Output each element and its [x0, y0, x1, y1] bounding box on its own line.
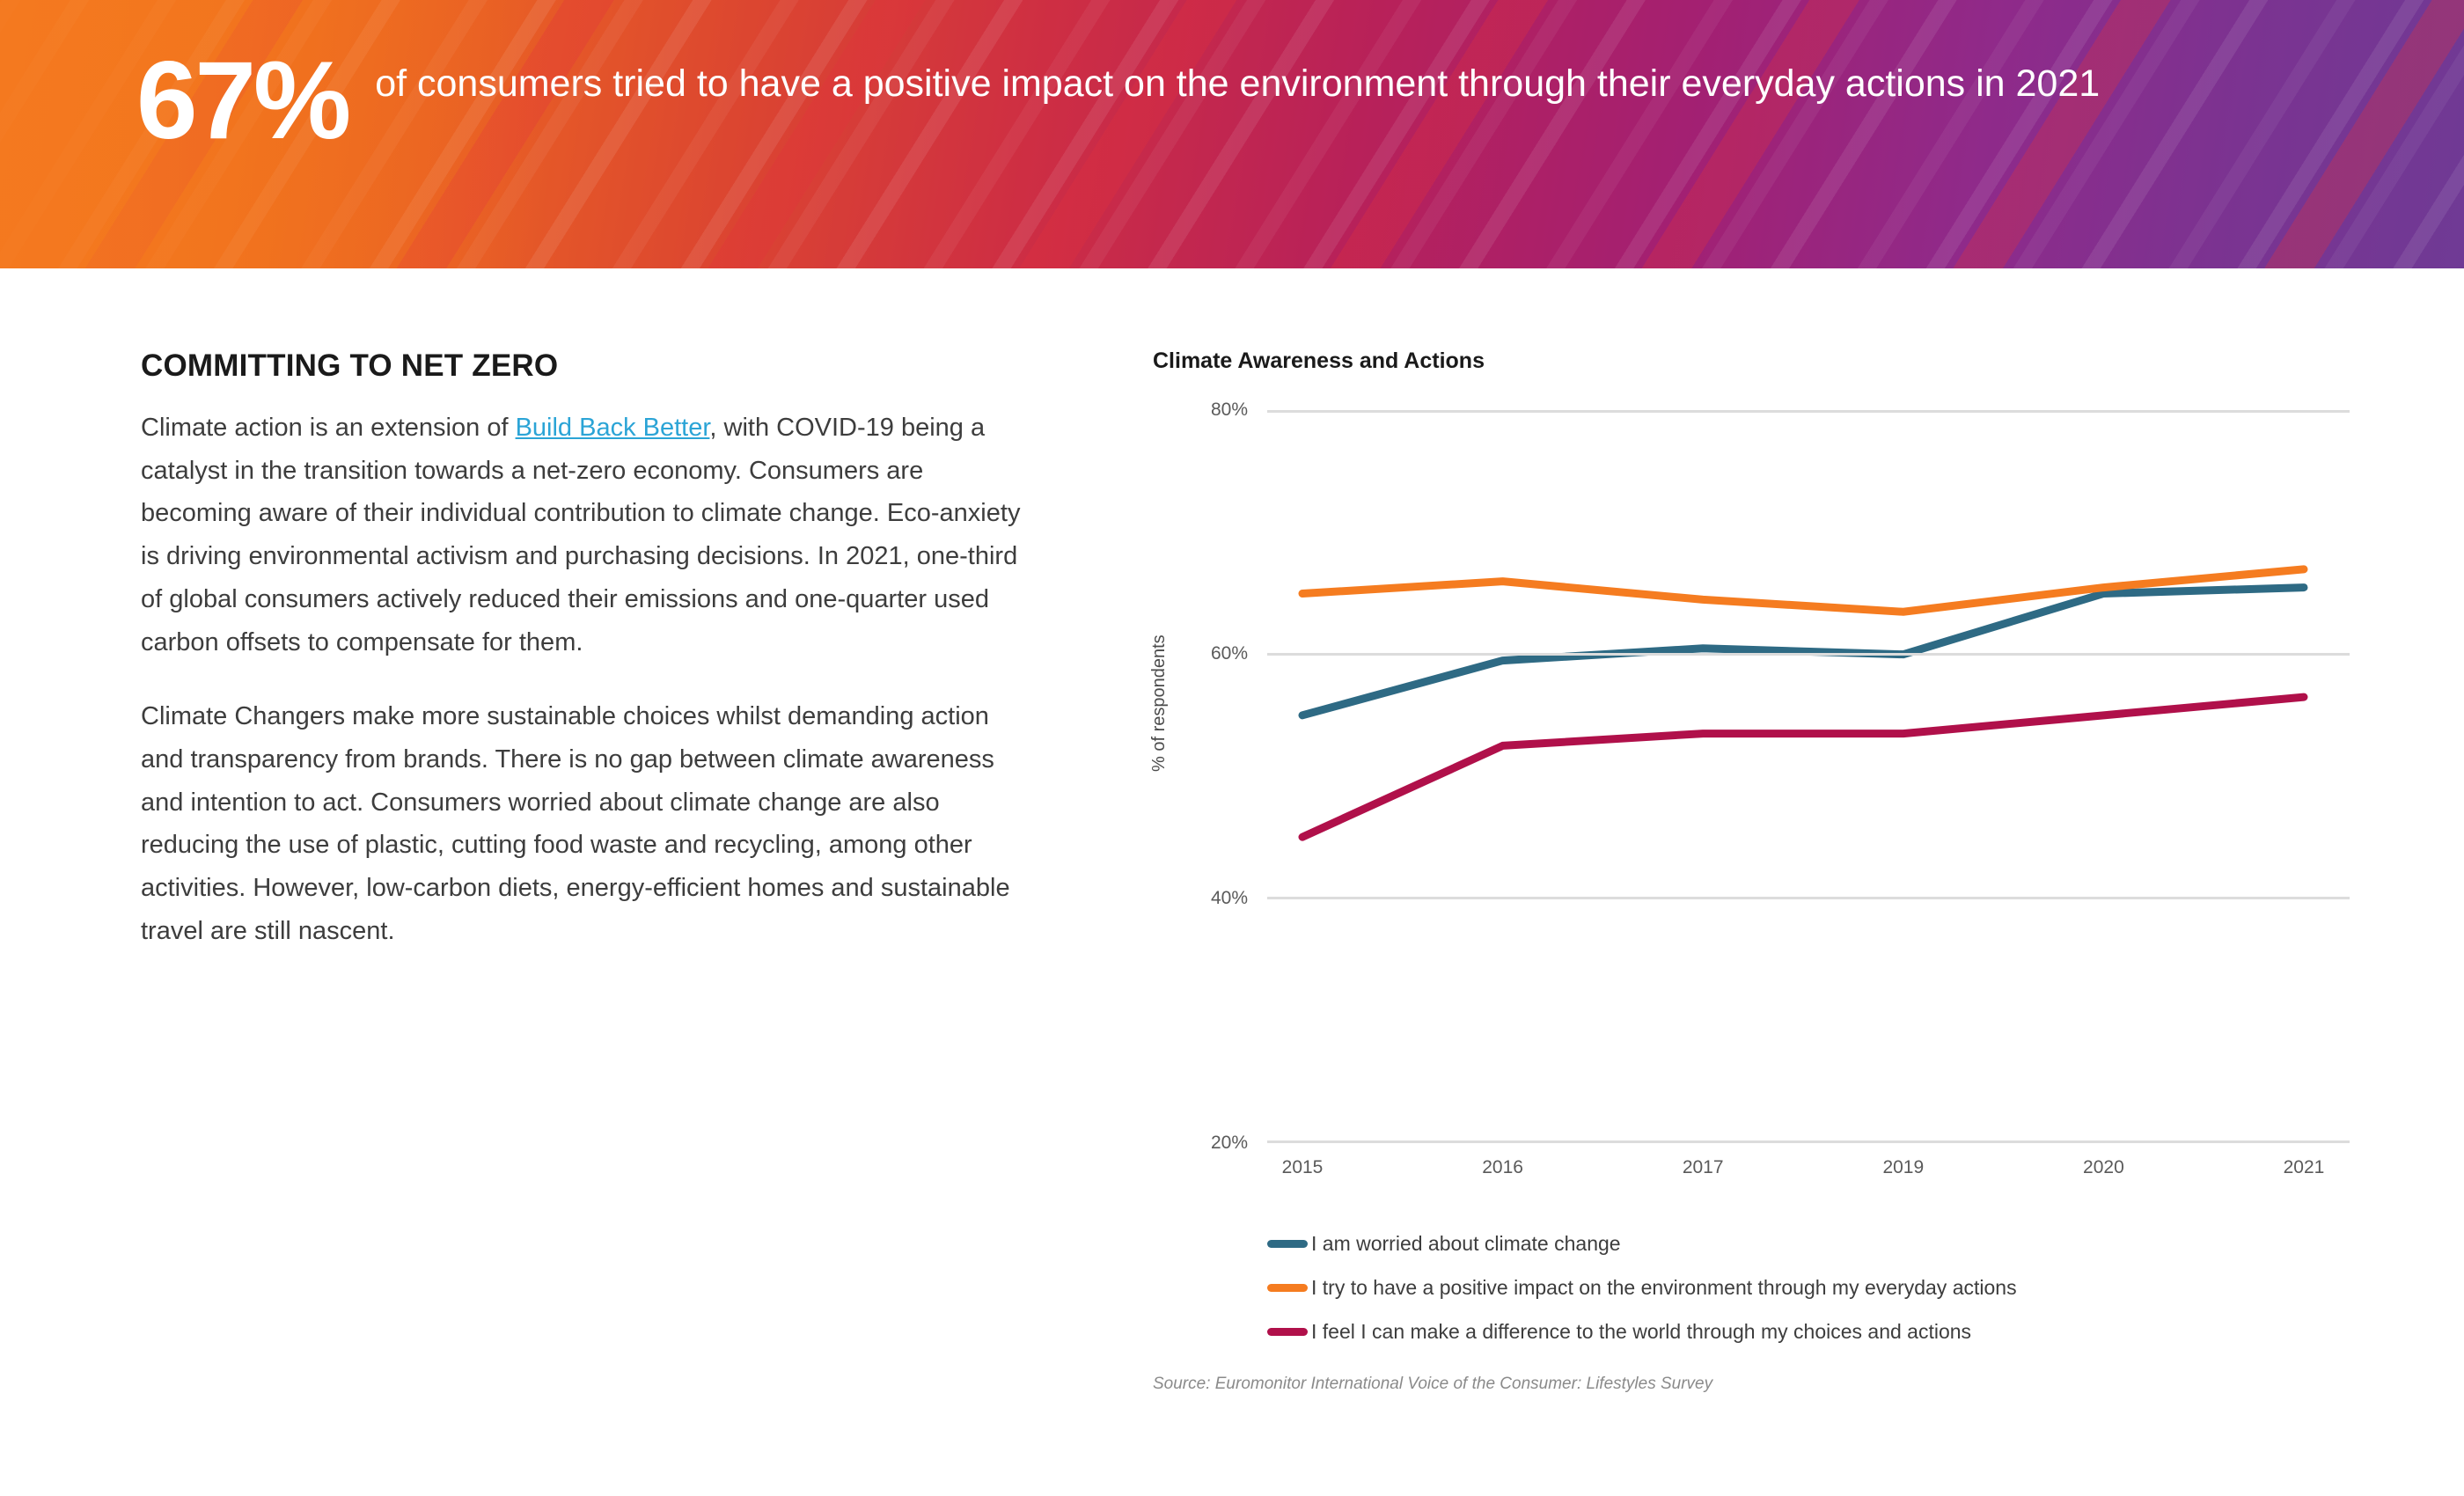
y-gridline: 20% — [1267, 1140, 2350, 1143]
headline-statistic: 67% — [136, 46, 348, 156]
paragraph-1-text-after-link: , with COVID-19 being a catalyst in the … — [141, 414, 1020, 656]
x-axis-tick-label: 2021 — [2284, 1157, 2325, 1178]
header-banner: 67% of consumers tried to have a positiv… — [0, 0, 2464, 268]
x-axis-tick-label: 2015 — [1282, 1157, 1324, 1178]
legend-item[interactable]: I try to have a positive impact on the e… — [1267, 1265, 2411, 1309]
chart-plot-area: 20%40%60%80% — [1267, 411, 2350, 1141]
infographic-page: 67% of consumers tried to have a positiv… — [0, 0, 2464, 1496]
legend-item-label: I am worried about climate change — [1311, 1232, 1621, 1256]
x-axis-tick-label: 2019 — [1882, 1157, 1924, 1178]
headline-description: of consumers tried to have a positive im… — [375, 46, 2100, 108]
legend-color-swatch-icon — [1267, 1284, 1308, 1292]
legend-color-swatch-icon — [1267, 1240, 1308, 1248]
legend-item-label: I try to have a positive impact on the e… — [1311, 1276, 2017, 1300]
section-heading: COMMITTING TO NET ZERO — [141, 348, 1030, 384]
chart-container: Climate Awareness and Actions % of respo… — [1153, 348, 2385, 1212]
y-axis-tick-label: 80% — [1211, 400, 1248, 421]
x-axis-tick-label: 2017 — [1683, 1157, 1724, 1178]
x-axis-tick-label: 2020 — [2083, 1157, 2124, 1178]
chart-plot-region: % of respondents 20%40%60%80% 2015201620… — [1153, 411, 2350, 1212]
article-column: COMMITTING TO NET ZERO Climate action is… — [141, 348, 1030, 985]
build-back-better-link[interactable]: Build Back Better — [516, 414, 710, 442]
chart-title: Climate Awareness and Actions — [1153, 348, 2385, 374]
article-paragraph-1: Climate action is an extension of Build … — [141, 407, 1030, 664]
chart-lines-svg — [1267, 411, 2350, 1141]
y-axis-tick-label: 20% — [1211, 1133, 1248, 1154]
banner-content: 67% of consumers tried to have a positiv… — [136, 46, 2100, 156]
legend-item[interactable]: I am worried about climate change — [1267, 1221, 2411, 1265]
y-gridline: 60% — [1267, 653, 2350, 656]
legend-color-swatch-icon — [1267, 1328, 1308, 1336]
x-axis-labels: 201520162017201920202021 — [1267, 1157, 2350, 1189]
legend-item[interactable]: I feel I can make a difference to the wo… — [1267, 1309, 2411, 1353]
y-gridline: 40% — [1267, 897, 2350, 899]
chart-source-note: Source: Euromonitor International Voice … — [1153, 1375, 1712, 1394]
y-axis-tick-label: 60% — [1211, 643, 1248, 664]
legend-item-label: I feel I can make a difference to the wo… — [1311, 1320, 1971, 1344]
x-axis-tick-label: 2016 — [1482, 1157, 1523, 1178]
chart-legend: I am worried about climate changeI try t… — [1267, 1221, 2411, 1353]
y-axis-tick-label: 40% — [1211, 888, 1248, 909]
article-paragraph-2: Climate Changers make more sustainable c… — [141, 695, 1030, 952]
y-axis-title: % of respondents — [1149, 634, 1170, 772]
chart-series-line — [1302, 697, 2304, 837]
y-gridline: 80% — [1267, 410, 2350, 413]
paragraph-1-text-before-link: Climate action is an extension of — [141, 414, 516, 442]
